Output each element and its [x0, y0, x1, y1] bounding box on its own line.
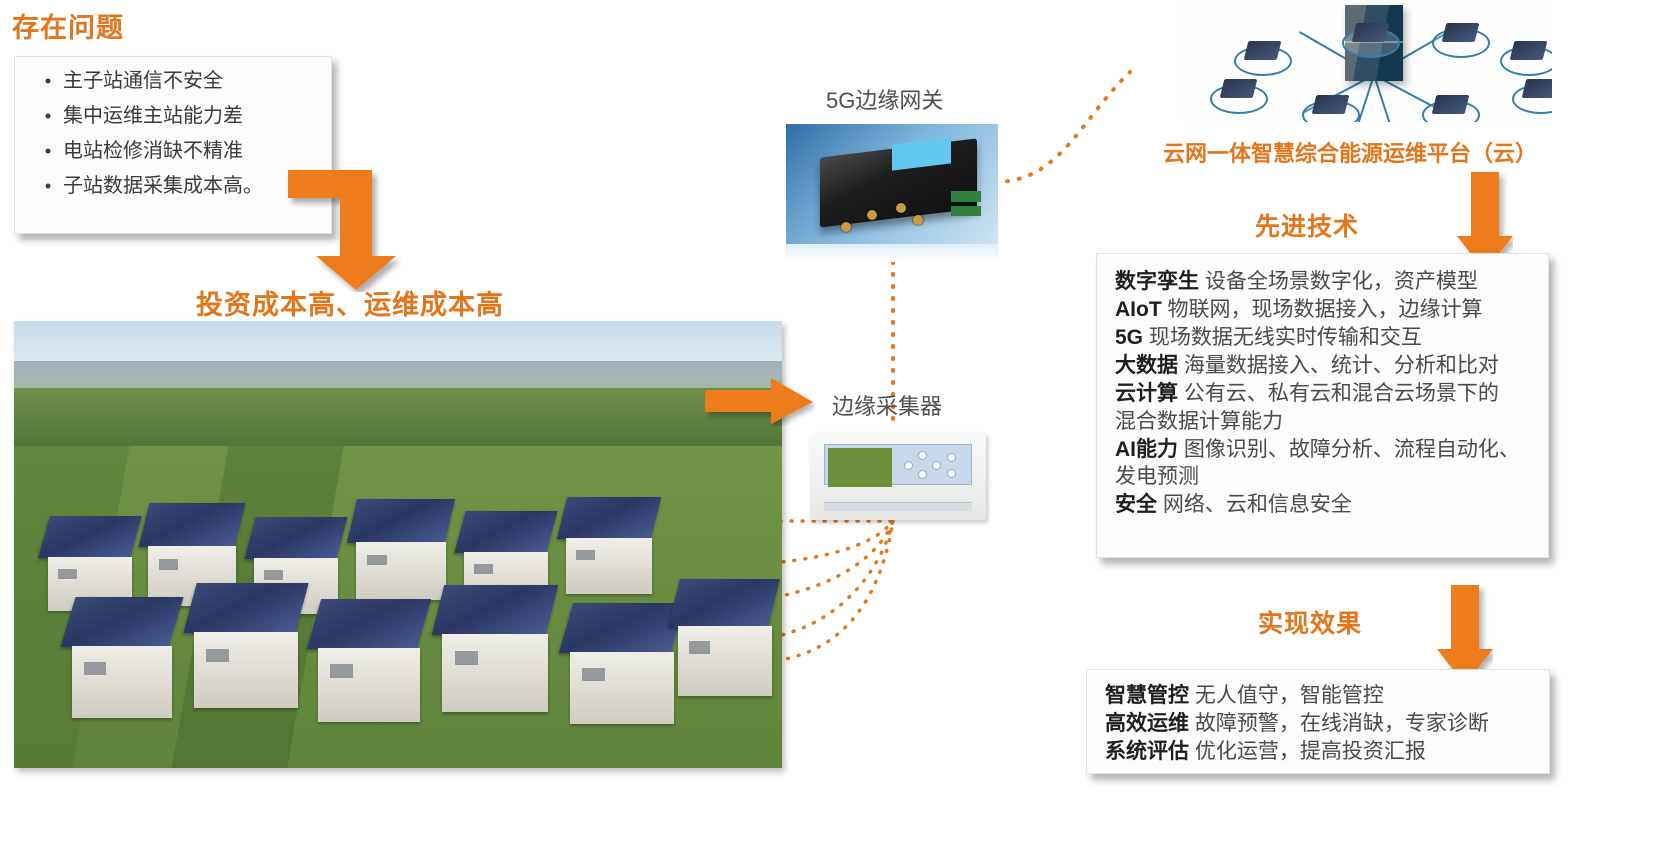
tech-desc: 网络、云和信息安全 [1163, 493, 1352, 516]
tech-desc: 海量数据接入、统计、分析和比对 [1184, 354, 1499, 377]
collector-label: 边缘采集器 [832, 389, 942, 421]
tech-line: 数字孪生 设备全场景数字化，资产模型 [1115, 268, 1536, 296]
tech-term: AIoT [1115, 298, 1162, 321]
collector-device-photo [810, 432, 986, 520]
list-item: • 集中运维主站能力差 [33, 106, 321, 126]
gateway-device-photo [786, 124, 998, 244]
tech-line: 大数据 海量数据接入、统计、分析和比对 [1115, 352, 1536, 380]
gateway-label: 5G边缘网关 [826, 83, 943, 115]
list-item: • 子站数据采集成本高。 [33, 176, 321, 196]
tech-line: AIoT 物联网，现场数据接入，边缘计算 [1115, 296, 1536, 324]
list-item: • 主子站通信不安全 [33, 71, 321, 91]
tech-desc: 物联网，现场数据接入，边缘计算 [1168, 298, 1483, 321]
tech-term: 云计算 [1115, 382, 1178, 405]
tech-term: 数字孪生 [1115, 270, 1199, 293]
bullet-icon: • [33, 142, 63, 160]
tech-line: 5G 现场数据无线实时传输和交互 [1115, 324, 1536, 352]
list-item-label: 电站检修消缺不精准 [63, 141, 243, 161]
tech-term: 5G [1115, 326, 1143, 349]
list-item: • 电站检修消缺不精准 [33, 141, 321, 161]
effect-desc: 故障预警，在线消缺，专家诊断 [1195, 712, 1489, 735]
elbow-arrow-right-down-icon [286, 168, 416, 292]
tech-desc: 混合数据计算能力 [1115, 410, 1283, 433]
tech-desc: 设备全场景数字化，资产模型 [1205, 270, 1478, 293]
tech-line: AI能力 图像识别、故障分析、流程自动化、 [1115, 436, 1536, 464]
effect-desc: 无人值守，智能管控 [1195, 684, 1384, 707]
tech-term: 安全 [1115, 493, 1157, 516]
tech-desc: 发电预测 [1115, 465, 1199, 488]
problems-title: 存在问题 [12, 6, 124, 45]
list-item-label: 主子站通信不安全 [63, 71, 223, 91]
tech-term: AI能力 [1115, 438, 1178, 461]
effect-line: 高效运维 故障预警，在线消缺，专家诊断 [1105, 710, 1537, 738]
tech-line: 混合数据计算能力 [1115, 408, 1536, 436]
effect-line: 系统评估 优化运营，提高投资汇报 [1105, 738, 1537, 766]
dotted-connector-gateway-to-cloud [995, 72, 1130, 182]
effect-desc: 优化运营，提高投资汇报 [1195, 740, 1426, 763]
effect-term: 智慧管控 [1105, 684, 1189, 707]
effect-term: 系统评估 [1105, 740, 1189, 763]
problems-panel: • 主子站通信不安全 • 集中运维主站能力差 • 电站检修消缺不精准 • 子站数… [14, 56, 332, 234]
tech-desc: 公有云、私有云和混合云场景下的 [1184, 382, 1499, 405]
bullet-icon: • [33, 177, 63, 195]
bullet-icon: • [33, 107, 63, 125]
effect-line: 智慧管控 无人值守，智能管控 [1105, 682, 1537, 710]
tech-line: 发电预测 [1115, 463, 1536, 491]
effect-title: 实现效果 [1258, 604, 1362, 640]
cloud-platform-label: 云网一体智慧综合能源运维平台（云） [1163, 136, 1537, 168]
arrow-right-icon [705, 378, 815, 426]
effect-term: 高效运维 [1105, 712, 1189, 735]
cost-title: 投资成本高、运维成本高 [196, 283, 504, 322]
list-item-label: 子站数据采集成本高。 [63, 176, 263, 196]
bullet-icon: • [33, 72, 63, 90]
village-aerial-photo [14, 321, 782, 768]
cloud-network-diagram-photo [1182, 0, 1552, 122]
list-item-label: 集中运维主站能力差 [63, 106, 243, 126]
tech-term: 大数据 [1115, 354, 1178, 377]
effect-panel: 智慧管控 无人值守，智能管控 高效运维 故障预警，在线消缺，专家诊断 系统评估 … [1086, 669, 1550, 774]
tech-desc: 图像识别、故障分析、流程自动化、 [1184, 438, 1520, 461]
gateway-photo-reflection [786, 244, 998, 262]
tech-panel: 数字孪生 设备全场景数字化，资产模型 AIoT 物联网，现场数据接入，边缘计算 … [1096, 253, 1549, 558]
tech-line: 安全 网络、云和信息安全 [1115, 491, 1536, 519]
slide-canvas: 存在问题 • 主子站通信不安全 • 集中运维主站能力差 • 电站检修消缺不精准 … [0, 0, 1679, 842]
tech-desc: 现场数据无线实时传输和交互 [1149, 326, 1422, 349]
tech-line: 云计算 公有云、私有云和混合云场景下的 [1115, 380, 1536, 408]
tech-title: 先进技术 [1255, 207, 1359, 243]
